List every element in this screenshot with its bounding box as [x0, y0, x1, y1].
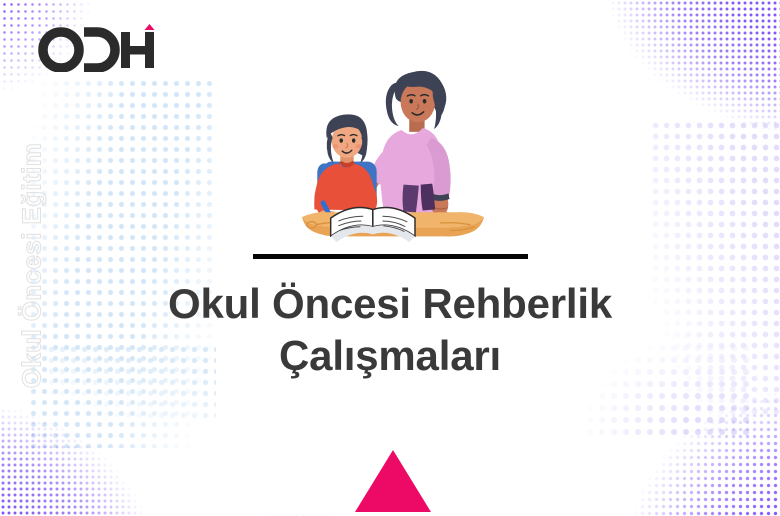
top-right-purple-wave-decoration [550, 0, 780, 198]
title-divider [253, 254, 528, 259]
pink-triangle-accent [355, 450, 431, 512]
illustration-svg [296, 62, 488, 244]
page-title-line-2: Çalışmaları [90, 330, 690, 382]
page-title: Okul Öncesi Rehberlik Çalışmaları [90, 278, 690, 382]
odh-logo[interactable] [38, 24, 168, 72]
left-blue-dot-band-decoration [28, 78, 218, 448]
odh-logo-icon [38, 24, 168, 72]
vertical-side-label: Okul Öncesi Eğitim [17, 116, 48, 416]
poster-canvas: Okul Öncesi Eğitim [0, 0, 780, 516]
page-title-line-1: Okul Öncesi Rehberlik [90, 278, 690, 330]
teacher-helping-child-illustration [296, 62, 488, 244]
